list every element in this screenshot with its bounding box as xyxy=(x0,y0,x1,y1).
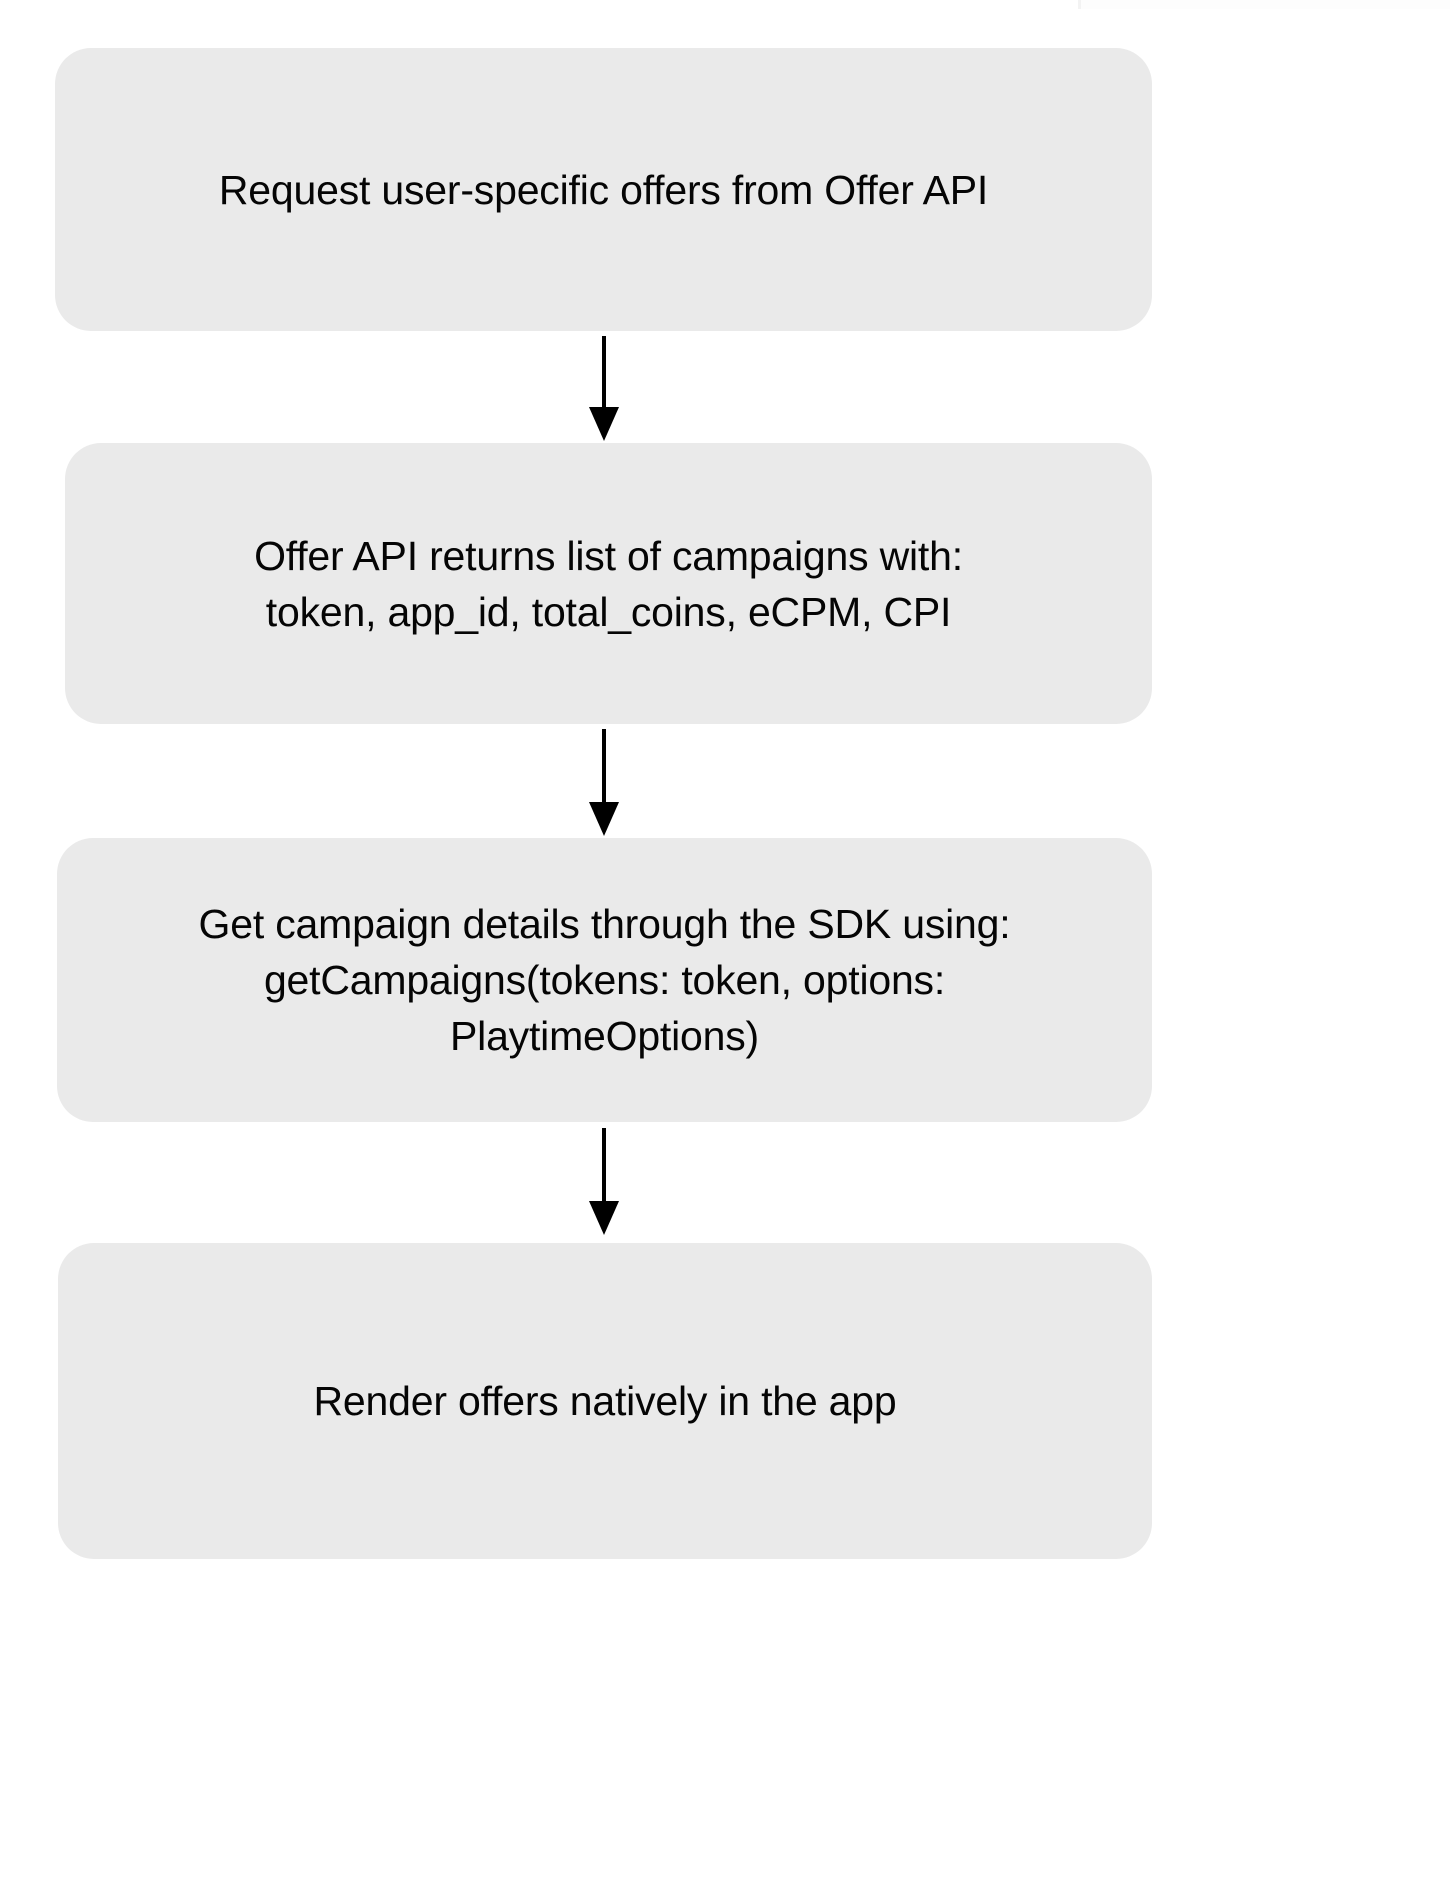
flow-node-label: Render offers natively in the app xyxy=(58,1373,1152,1429)
flow-node-offer-api-response[interactable]: Offer API returns list of campaigns with… xyxy=(65,443,1152,724)
flow-node-request-offers[interactable]: Request user-specific offers from Offer … xyxy=(55,48,1152,331)
edge-node1-node2 xyxy=(589,336,619,441)
flowchart-diagram: Request user-specific offers from Offer … xyxy=(0,0,1450,1880)
flow-node-label: Offer API returns list of campaigns with… xyxy=(65,528,1152,640)
corner-artifact xyxy=(1078,0,1450,9)
edge-node3-node4 xyxy=(589,1128,619,1235)
flow-node-label: Request user-specific offers from Offer … xyxy=(55,162,1152,218)
flow-node-get-campaign-details[interactable]: Get campaign details through the SDK usi… xyxy=(57,838,1152,1122)
flow-node-label: Get campaign details through the SDK usi… xyxy=(57,896,1152,1064)
flow-node-render-offers[interactable]: Render offers natively in the app xyxy=(58,1243,1152,1559)
edge-node2-node3 xyxy=(589,729,619,836)
